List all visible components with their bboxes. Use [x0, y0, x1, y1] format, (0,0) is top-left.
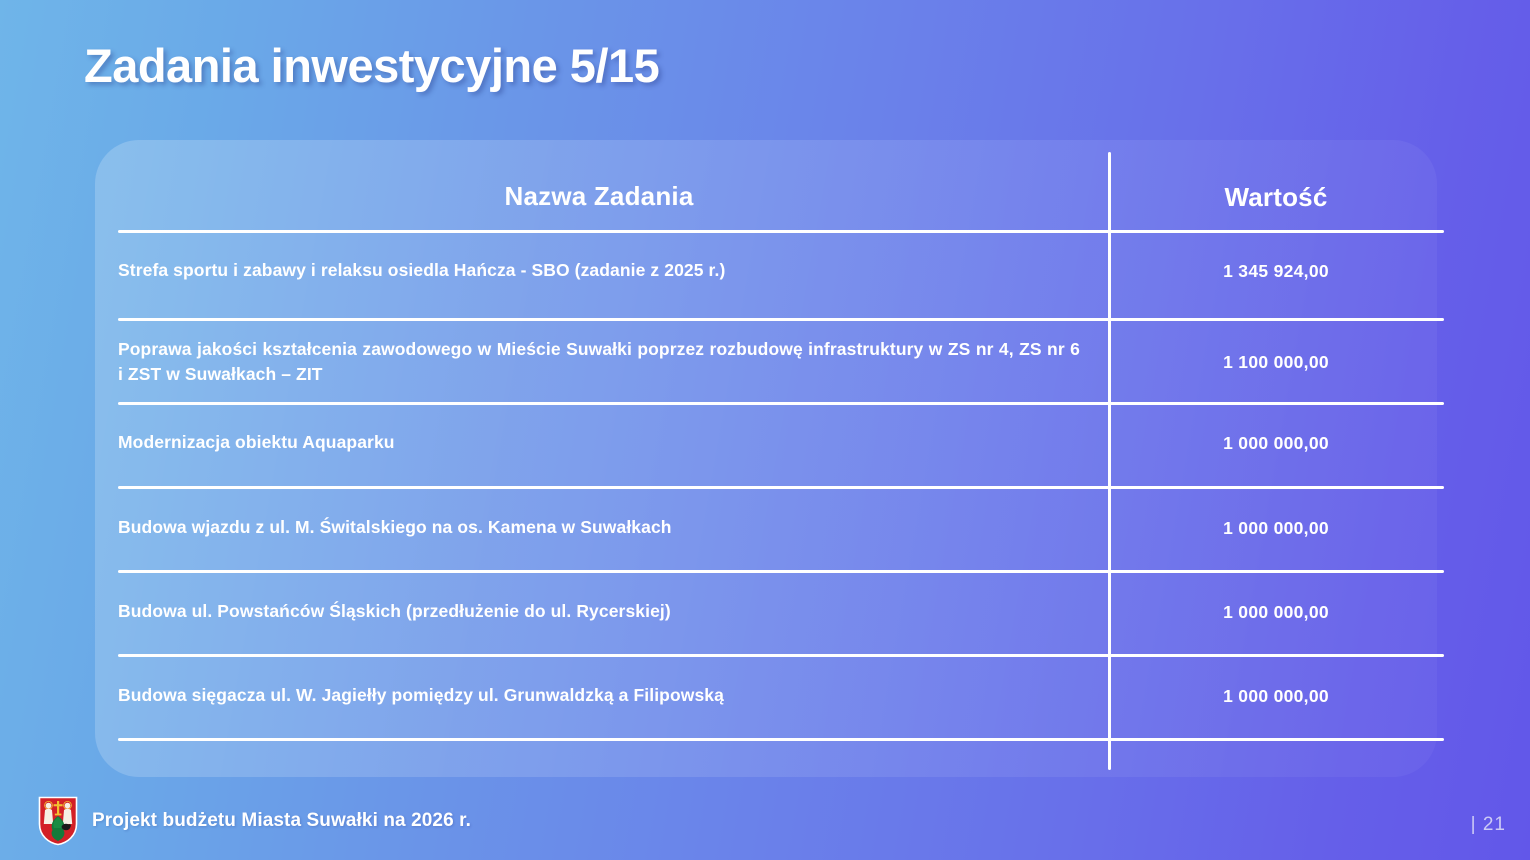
suwalki-coat-of-arms-icon — [38, 796, 78, 846]
table-row[interactable]: Budowa sięgacza ul. W. Jagiełły pomiędzy… — [118, 656, 1444, 736]
task-name: Poprawa jakości kształcenia zawodowego w… — [118, 337, 1108, 388]
page-title: Zadania inwestycyjne 5/15 — [84, 38, 659, 93]
task-value: 1 000 000,00 — [1108, 518, 1444, 539]
task-name: Modernizacja obiektu Aquaparku — [118, 430, 1108, 455]
task-value: 1 100 000,00 — [1108, 352, 1444, 373]
table-row[interactable]: Budowa wjazdu z ul. M. Świtalskiego na o… — [118, 488, 1444, 568]
task-value: 1 000 000,00 — [1108, 686, 1444, 707]
column-header-value: Wartość — [1108, 182, 1444, 213]
table-row[interactable]: Modernizacja obiektu Aquaparku 1 000 000… — [118, 404, 1444, 482]
page-number: | 21 — [1471, 814, 1506, 836]
task-name: Budowa ul. Powstańców Śląskich (przedłuż… — [118, 599, 1108, 624]
table-header-row: Nazwa Zadania Wartość — [118, 164, 1444, 230]
footer-label: Projekt budżetu Miasta Suwałki na 2026 r… — [92, 810, 471, 832]
table-row[interactable]: Strefa sportu i zabawy i relaksu osiedla… — [118, 232, 1444, 310]
task-name: Budowa sięgacza ul. W. Jagiełły pomiędzy… — [118, 683, 1108, 708]
task-value: 1 000 000,00 — [1108, 602, 1444, 623]
task-value: 1 000 000,00 — [1108, 433, 1444, 454]
table-bottom-separator — [118, 738, 1444, 741]
task-name: Budowa wjazdu z ul. M. Świtalskiego na o… — [118, 515, 1108, 540]
table-card: Nazwa Zadania Wartość Strefa sportu i za… — [95, 140, 1437, 777]
task-value: 1 345 924,00 — [1108, 261, 1444, 282]
column-header-name: Nazwa Zadania — [118, 178, 1108, 216]
table-row[interactable]: Budowa ul. Powstańców Śląskich (przedłuż… — [118, 572, 1444, 652]
task-name: Strefa sportu i zabawy i relaksu osiedla… — [118, 258, 1108, 283]
footer: Projekt budżetu Miasta Suwałki na 2026 r… — [38, 796, 471, 846]
table-row[interactable]: Poprawa jakości kształcenia zawodowego w… — [118, 320, 1444, 404]
investment-tasks-table: Nazwa Zadania Wartość Strefa sportu i za… — [118, 150, 1444, 770]
